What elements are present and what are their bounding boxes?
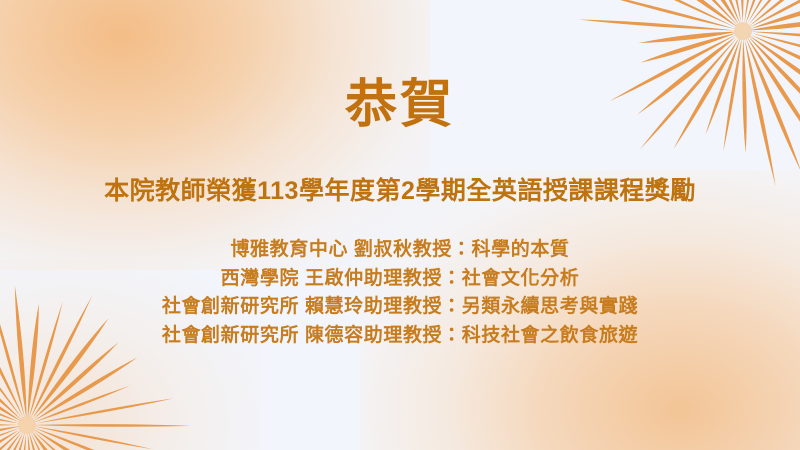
list-item: 社會創新研究所 賴慧玲助理教授：另類永續思考與實踐 — [0, 293, 800, 322]
page-title: 恭賀 — [0, 78, 800, 133]
slide-subtitle: 本院教師榮獲113學年度第2學期全英語授課課程獎勵 — [0, 176, 800, 206]
slide-content: 恭賀 本院教師榮獲113學年度第2學期全英語授課課程獎勵 博雅教育中心 劉叔秋教… — [0, 0, 800, 450]
list-item: 社會創新研究所 陳德容助理教授：科技社會之飲食旅遊 — [0, 322, 800, 351]
award-recipient-list: 博雅教育中心 劉叔秋教授：科學的本質 西灣學院 王啟仲助理教授：社會文化分析 社… — [0, 236, 800, 350]
list-item: 西灣學院 王啟仲助理教授：社會文化分析 — [0, 265, 800, 294]
congratulation-slide: 恭賀 本院教師榮獲113學年度第2學期全英語授課課程獎勵 博雅教育中心 劉叔秋教… — [0, 0, 800, 450]
list-item: 博雅教育中心 劉叔秋教授：科學的本質 — [0, 236, 800, 265]
